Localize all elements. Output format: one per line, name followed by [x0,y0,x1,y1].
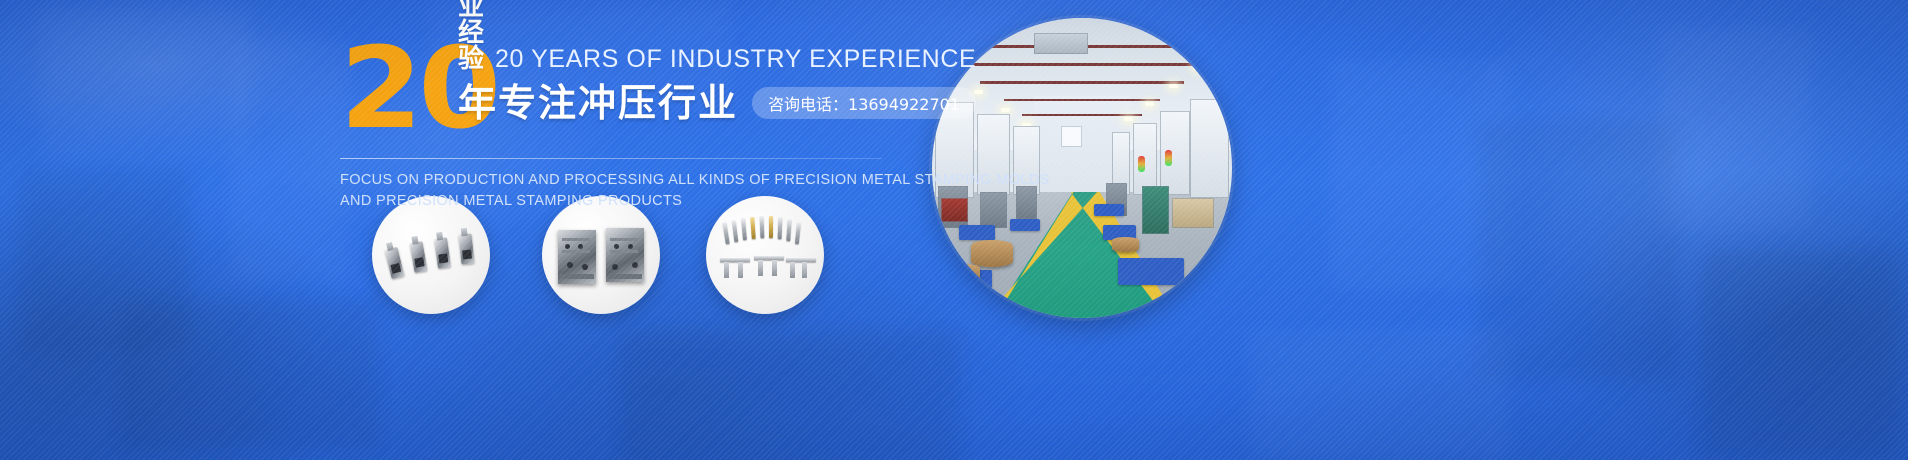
subtitle: FOCUS ON PRODUCTION AND PROCESSING ALL K… [340,170,900,212]
metal-terminals-photo [706,196,824,314]
phone-badge[interactable]: 咨询电话：13694922701 [752,87,976,119]
headline: 20 行业经验 20 YEARS OF INDUSTRY EXPERIENCE … [340,36,900,146]
industry-experience-cn: 行业经验 [458,0,485,72]
subtitle-line-2: AND PRECISION METAL STAMPING PRODUCTS [340,191,900,212]
factory-workshop-photo [932,18,1232,318]
subtitle-line-1: FOCUS ON PRODUCTION AND PROCESSING ALL K… [340,170,900,191]
headline-copy-block: 20 行业经验 20 YEARS OF INDUSTRY EXPERIENCE … [340,36,900,212]
divider [340,158,882,159]
stamping-mold-photo [542,196,660,314]
focus-stamping-cn: 年专注冲压行业 [458,84,738,122]
usb-connectors-photo [372,196,490,314]
hero-banner: 20 行业经验 20 YEARS OF INDUSTRY EXPERIENCE … [0,0,1908,460]
years-experience-en: 20 YEARS OF INDUSTRY EXPERIENCE [495,47,976,72]
